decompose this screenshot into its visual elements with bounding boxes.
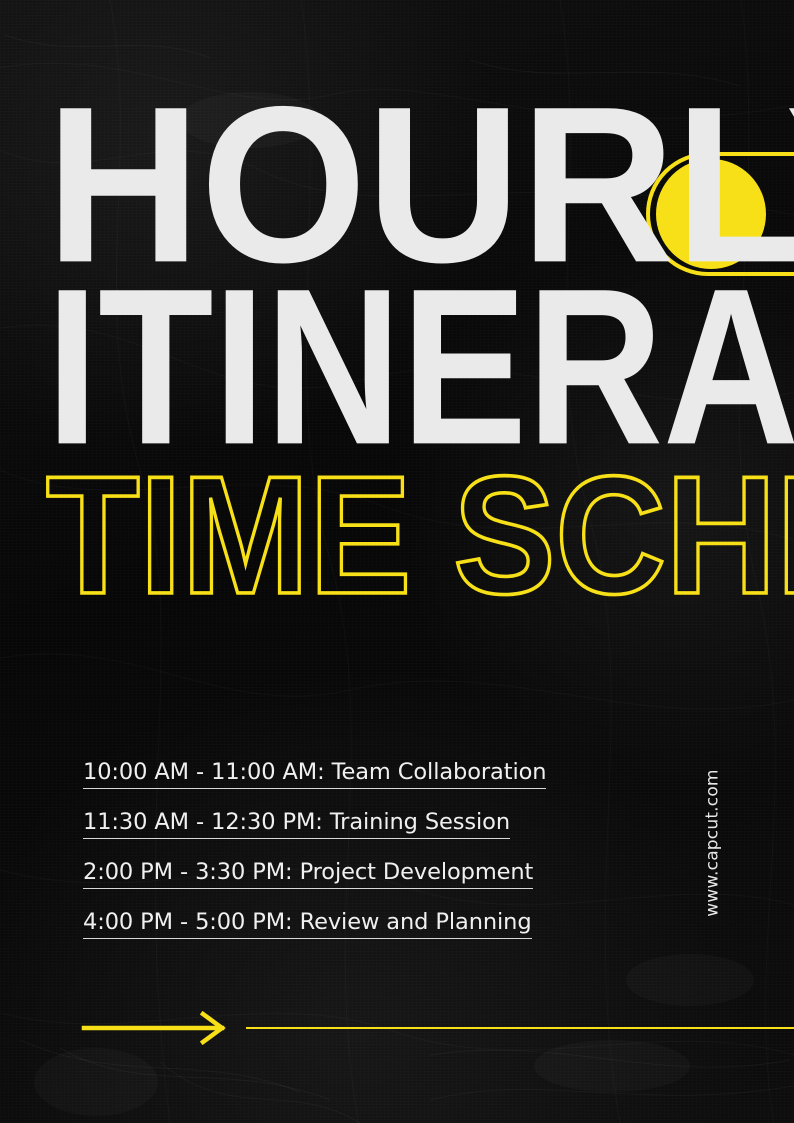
title-line-itinerary: ITINERARY xyxy=(46,278,730,456)
list-item: 2:00 PM - 3:30 PM: Project Development xyxy=(83,850,546,900)
website-url-vertical: www.capcut.com xyxy=(700,745,726,940)
list-item: 10:00 AM - 11:00 AM: Team Collaboration xyxy=(83,750,546,800)
list-item: 4:00 PM - 5:00 PM: Review and Planning xyxy=(83,900,546,950)
subtitle-time-schedule: TIME SCHEDULE xyxy=(46,468,776,602)
schedule-entry-text: 11:30 AM - 12:30 PM: Training Session xyxy=(83,811,510,840)
schedule-entry-text: 2:00 PM - 3:30 PM: Project Development xyxy=(83,861,533,890)
schedule-entry-text: 10:00 AM - 11:00 AM: Team Collaboration xyxy=(83,761,546,790)
bottom-decoration xyxy=(0,1004,794,1054)
website-url-text: www.capcut.com xyxy=(703,769,723,916)
poster-canvas: HOURLY ITINERARY TIME SCHEDULE 10:00 AM … xyxy=(0,0,794,1123)
schedule-entry-text: 4:00 PM - 5:00 PM: Review and Planning xyxy=(83,911,532,940)
page-title: HOURLY ITINERARY TIME SCHEDULE xyxy=(46,96,794,596)
schedule-list: 10:00 AM - 11:00 AM: Team Collaboration … xyxy=(83,750,546,950)
list-item: 11:30 AM - 12:30 PM: Training Session xyxy=(83,800,546,850)
